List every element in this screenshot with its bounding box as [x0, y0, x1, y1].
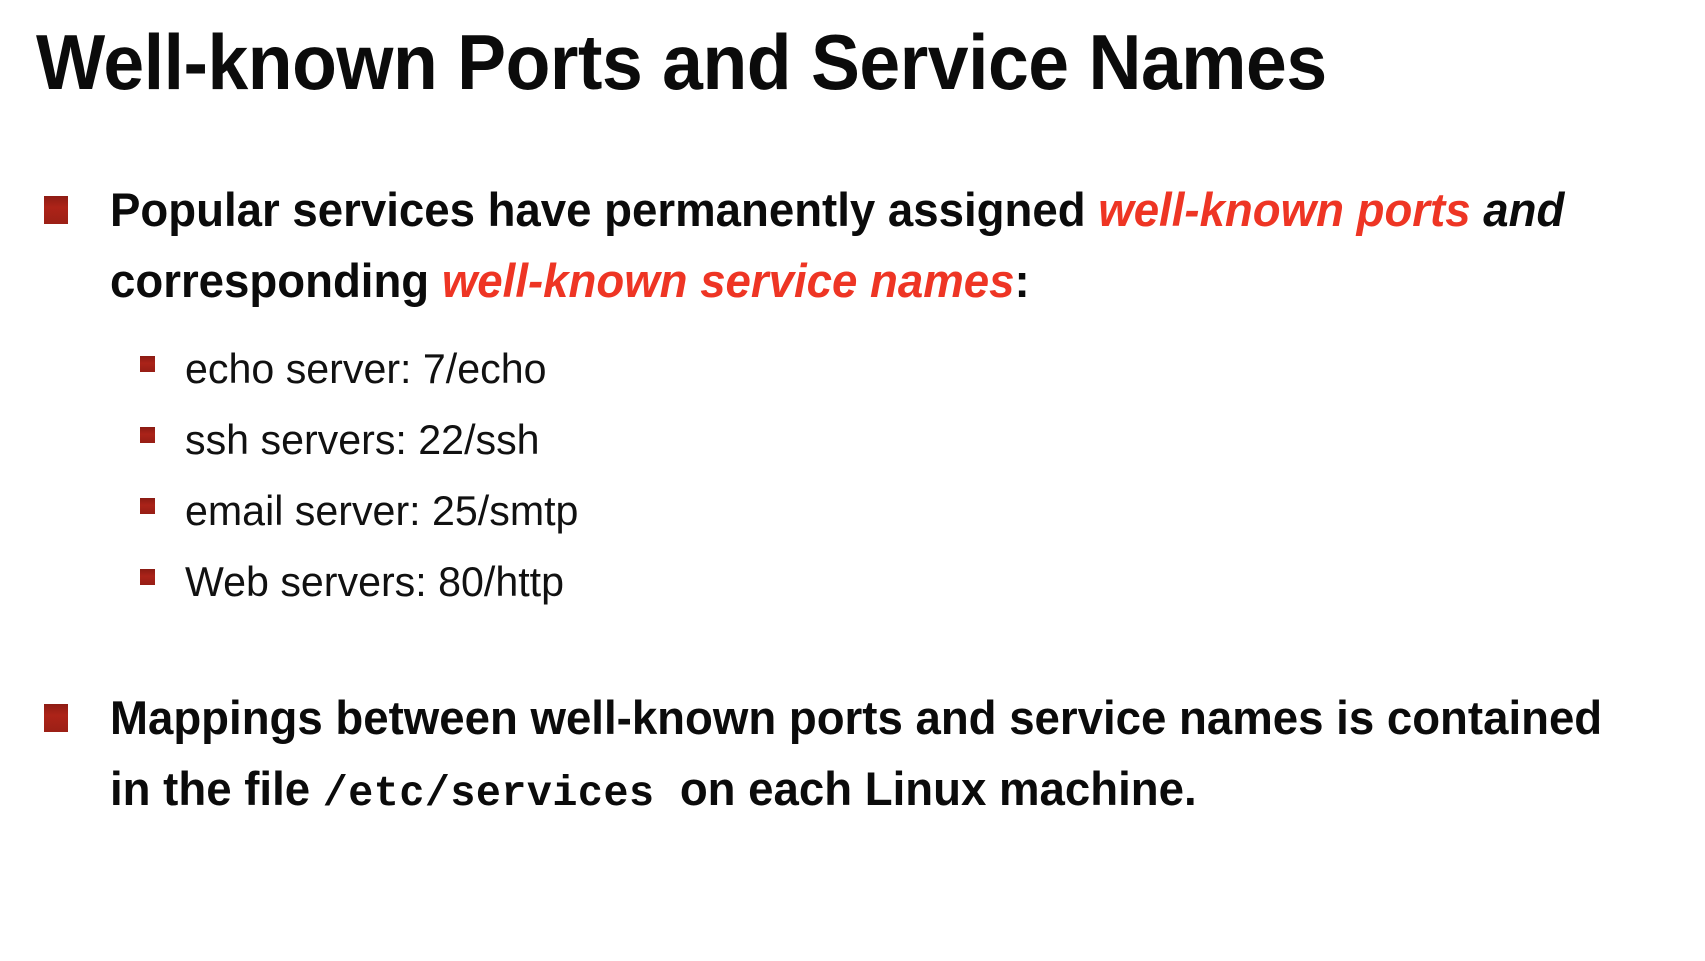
- sub-bullet-label-email: email server: 25/smtp: [185, 480, 1317, 542]
- bullet-item-1: Popular services have permanently assign…: [44, 174, 1684, 316]
- file-path-code: /etc/services: [323, 769, 655, 818]
- sub-bullet-item-web: Web servers: 80/http: [140, 551, 1340, 622]
- page-title: Well-known Ports and Service Names: [36, 16, 1559, 108]
- slide-canvas: Well-known Ports and Service Names Popul…: [0, 0, 1705, 961]
- bullet-1-run-2-emphasis: well-known ports: [1098, 183, 1470, 236]
- sub-bullet-label-web: Web servers: 80/http: [185, 551, 1317, 613]
- bullet-1-run-1: Popular services have permanently assign…: [110, 183, 1098, 236]
- bullet-1-run-3-and: and: [1471, 183, 1565, 236]
- square-bullet-icon: [44, 196, 68, 224]
- square-bullet-icon: [140, 569, 155, 585]
- square-bullet-icon: [140, 427, 155, 443]
- sub-bullet-label-echo: echo server: 7/echo: [185, 338, 1317, 400]
- sub-bullet-list: echo server: 7/echo ssh servers: 22/ssh …: [140, 338, 1340, 622]
- bullet-2-run-3: on each Linux machine.: [654, 762, 1196, 815]
- sub-bullet-item-email: email server: 25/smtp: [140, 480, 1340, 551]
- sub-bullet-item-ssh: ssh servers: 22/ssh: [140, 409, 1340, 480]
- bullet-2-text: Mappings between well-known ports and se…: [110, 682, 1637, 829]
- bullet-1-run-5-emphasis: well-known service names: [442, 254, 1015, 307]
- sub-bullet-item-echo: echo server: 7/echo: [140, 338, 1340, 409]
- sub-bullet-label-ssh: ssh servers: 22/ssh: [185, 409, 1317, 471]
- bullet-item-2: Mappings between well-known ports and se…: [44, 682, 1684, 829]
- bullet-1-run-4: corresponding: [110, 254, 442, 307]
- square-bullet-icon: [44, 704, 68, 732]
- square-bullet-icon: [140, 498, 155, 514]
- bullet-1-text: Popular services have permanently assign…: [110, 174, 1637, 316]
- square-bullet-icon: [140, 356, 155, 372]
- bullet-1-run-6-colon: :: [1014, 254, 1029, 307]
